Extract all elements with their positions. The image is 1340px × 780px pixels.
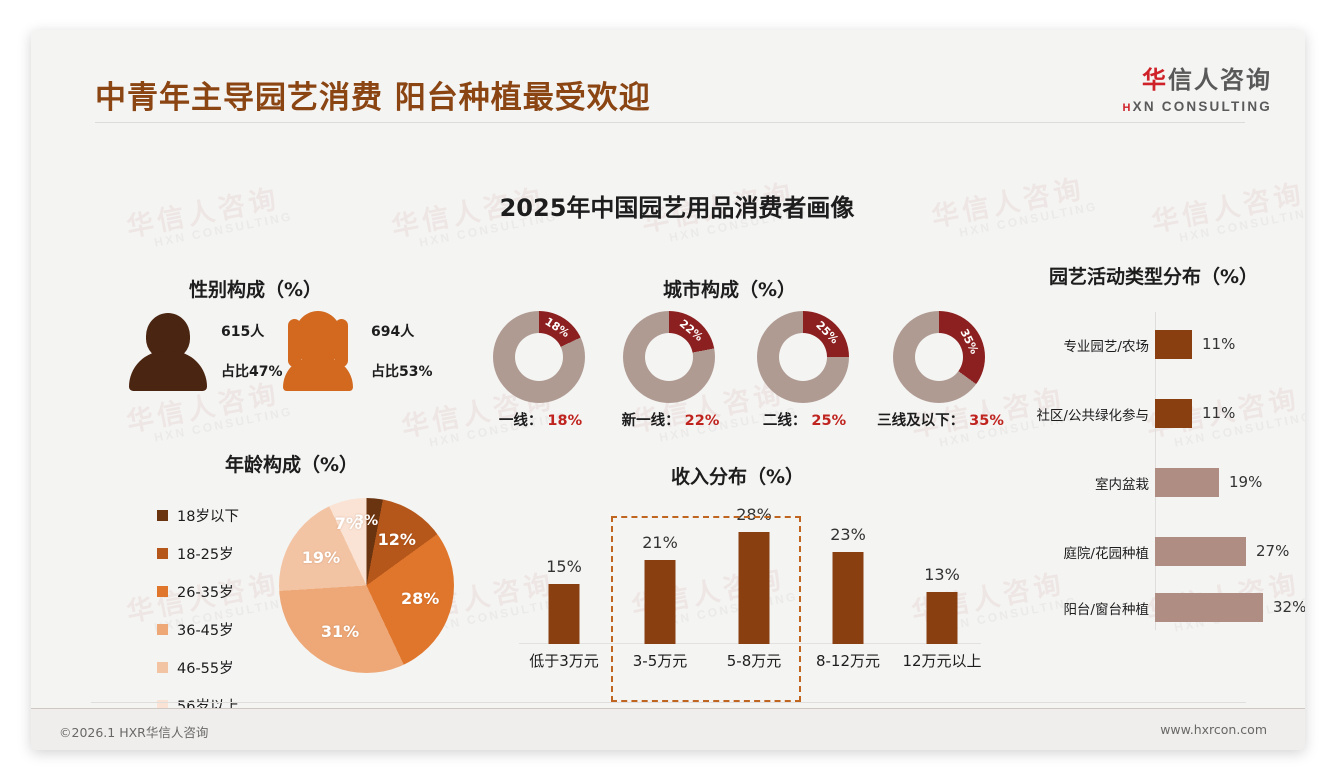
age-legend-item-3: 36-45岁 <box>157 619 239 640</box>
income-section-title: 收入分布（%） <box>671 462 804 489</box>
gender-item-female: 694人 占比53% <box>279 313 357 391</box>
age-legend-item-1: 18-25岁 <box>157 543 239 564</box>
logo-chars-rest: 信人咨询 <box>1168 66 1272 94</box>
city-donut-caption-3: 三线及以下： 35% <box>877 409 1004 430</box>
donut-ring: 35% <box>893 311 985 403</box>
city-donut-caption-2: 二线： 25% <box>763 409 846 430</box>
income-bar-value: 15% <box>546 557 582 576</box>
female-silhouette-icon <box>279 313 357 391</box>
activity-bar <box>1155 468 1219 497</box>
activity-bar-value: 32% <box>1273 598 1305 616</box>
chart-subtitle: 2025年中国园艺用品消费者画像 <box>31 188 1305 223</box>
donut-segment-label: 18% <box>543 315 572 340</box>
city-donut-1: 22%新一线： 22% <box>623 311 718 403</box>
age-slice-label-5: 7% <box>335 514 362 533</box>
legend-swatch <box>157 662 168 673</box>
income-plot: 15%低于3万元21%3-5万元28%5-8万元23%8-12万元13%12万元… <box>509 506 991 686</box>
legend-label: 26-35岁 <box>177 581 234 602</box>
income-bar-category: 12万元以上 <box>902 650 981 676</box>
city-donut-0: 18%一线： 18% <box>493 311 588 403</box>
city-label: 三线及以下： <box>877 413 964 429</box>
legend-label: 18-25岁 <box>177 543 234 564</box>
activity-label: 阳台/窗台种植 <box>1063 598 1149 618</box>
income-bar <box>833 552 864 644</box>
income-bar-value: 13% <box>924 565 960 584</box>
age-section: 年龄构成（%） 18岁以下18-25岁26-35岁36-45岁46-55岁56岁… <box>131 450 471 685</box>
city-donut-caption-0: 一线： 18% <box>499 409 582 430</box>
activity-label: 专业园艺/农场 <box>1063 335 1149 355</box>
city-value: 35% <box>964 413 1004 429</box>
age-slice-label-4: 19% <box>302 548 340 567</box>
donut-segment-label: 35% <box>958 326 982 355</box>
income-bar <box>549 584 580 644</box>
activity-bar <box>1155 330 1192 359</box>
logo-chinese: 华信人咨询 <box>1122 60 1272 95</box>
city-donut-caption-1: 新一线： 22% <box>622 409 720 430</box>
legend-swatch <box>157 586 168 597</box>
income-bar-value: 23% <box>830 525 866 544</box>
logo-en-text: XN CONSULTING <box>1133 99 1272 114</box>
activity-bar <box>1155 593 1263 622</box>
age-legend: 18岁以下18-25岁26-35岁36-45岁46-55岁56岁以上 <box>157 505 239 733</box>
age-slice-label-3: 31% <box>321 622 359 641</box>
donut-ring: 18% <box>493 311 585 403</box>
activity-bar <box>1155 537 1246 566</box>
activity-row-0: 专业园艺/农场11% <box>1031 330 1301 360</box>
page-title: 中青年主导园艺消费 阳台种植最受欢迎 <box>95 72 651 117</box>
header: 中青年主导园艺消费 阳台种植最受欢迎 华信人咨询 HXN CONSULTING <box>31 30 1305 125</box>
gender-male-text: 615人 占比47% <box>221 321 283 381</box>
city-value: 25% <box>806 413 846 429</box>
age-slice-label-2: 28% <box>401 589 439 608</box>
donut-segment-label: 22% <box>677 317 706 344</box>
donut-segment-label: 25% <box>813 319 841 347</box>
gender-section-title: 性别构成（%） <box>189 275 322 302</box>
age-legend-item-2: 26-35岁 <box>157 581 239 602</box>
activity-bar-value: 11% <box>1202 335 1235 353</box>
legend-label: 46-55岁 <box>177 657 234 678</box>
age-legend-item-0: 18岁以下 <box>157 505 239 526</box>
city-label: 新一线： <box>622 413 680 429</box>
gender-female-count: 694人 <box>371 321 433 341</box>
city-section: 城市构成（%） 18%一线： 18%22%新一线： 22%25%二线： 25%3… <box>471 275 1011 415</box>
activity-bar-value: 27% <box>1256 542 1289 560</box>
header-divider <box>95 122 1245 123</box>
activity-label: 室内盆栽 <box>1095 473 1149 493</box>
activity-label: 社区/公共绿化参与 <box>1036 404 1149 424</box>
income-bar-category: 8-12万元 <box>816 650 880 676</box>
income-section: 收入分布（%） 15%低于3万元21%3-5万元28%5-8万元23%8-12万… <box>501 462 1001 687</box>
infographic-card: 华信人咨询HXN CONSULTING华信人咨询HXN CONSULTING华信… <box>31 30 1305 750</box>
income-bar <box>927 592 958 644</box>
activity-section: 园艺活动类型分布（%） 专业园艺/农场11%社区/公共绿化参与11%室内盆栽19… <box>1031 262 1301 642</box>
activity-row-2: 室内盆栽19% <box>1031 468 1301 498</box>
donut-ring: 25% <box>757 311 849 403</box>
footnote-divider <box>91 702 1246 703</box>
activity-label: 庭院/花园种植 <box>1063 542 1149 562</box>
activity-bar-value: 11% <box>1202 404 1235 422</box>
legend-swatch <box>157 548 168 559</box>
activity-section-title: 园艺活动类型分布（%） <box>1049 262 1258 289</box>
activity-bar <box>1155 399 1192 428</box>
gender-female-text: 694人 占比53% <box>371 321 433 381</box>
gender-male-count: 615人 <box>221 321 283 341</box>
legend-swatch <box>157 624 168 635</box>
age-slice-label-1: 12% <box>378 530 416 549</box>
city-label: 一线： <box>499 413 543 429</box>
city-value: 18% <box>542 413 582 429</box>
logo-char-hua: 华 <box>1142 66 1168 94</box>
activity-bar-value: 19% <box>1229 473 1262 491</box>
income-bar-category: 低于3万元 <box>529 650 599 676</box>
activity-row-1: 社区/公共绿化参与11% <box>1031 399 1301 429</box>
city-label: 二线： <box>763 413 807 429</box>
footer-website[interactable]: www.hxrcon.com <box>1160 722 1267 737</box>
company-logo: 华信人咨询 HXN CONSULTING <box>1122 60 1272 114</box>
age-pie-chart: 3%12%28%31%19%7% <box>279 498 454 673</box>
male-silhouette-icon <box>129 313 207 391</box>
gender-section: 性别构成（%） 615人 占比47% <box>101 275 461 405</box>
age-legend-item-4: 46-55岁 <box>157 657 239 678</box>
logo-en-mark: H <box>1122 102 1132 114</box>
legend-label: 18岁以下 <box>177 505 239 526</box>
infographic-page: 华信人咨询HXN CONSULTING华信人咨询HXN CONSULTING华信… <box>0 0 1340 780</box>
activity-row-3: 庭院/花园种植27% <box>1031 537 1301 567</box>
income-highlight-box <box>611 516 801 702</box>
footer-copyright: ©2026.1 HXR华信人咨询 <box>59 722 208 741</box>
city-donut-2: 25%二线： 25% <box>757 311 852 403</box>
city-value: 22% <box>680 413 720 429</box>
donut-ring: 22% <box>623 311 715 403</box>
city-donut-3: 35%三线及以下： 35% <box>893 311 988 403</box>
legend-swatch <box>157 510 168 521</box>
footer-bar: ©2026.1 HXR华信人咨询 www.hxrcon.com <box>31 708 1305 750</box>
activity-row-4: 阳台/窗台种植32% <box>1031 593 1301 623</box>
logo-english: HXN CONSULTING <box>1122 99 1272 114</box>
legend-label: 36-45岁 <box>177 619 234 640</box>
age-section-title: 年龄构成（%） <box>225 450 358 477</box>
gender-item-male: 615人 占比47% <box>129 313 207 391</box>
city-section-title: 城市构成（%） <box>663 275 796 302</box>
gender-female-share: 占比53% <box>371 361 433 381</box>
gender-male-share: 占比47% <box>221 361 283 381</box>
